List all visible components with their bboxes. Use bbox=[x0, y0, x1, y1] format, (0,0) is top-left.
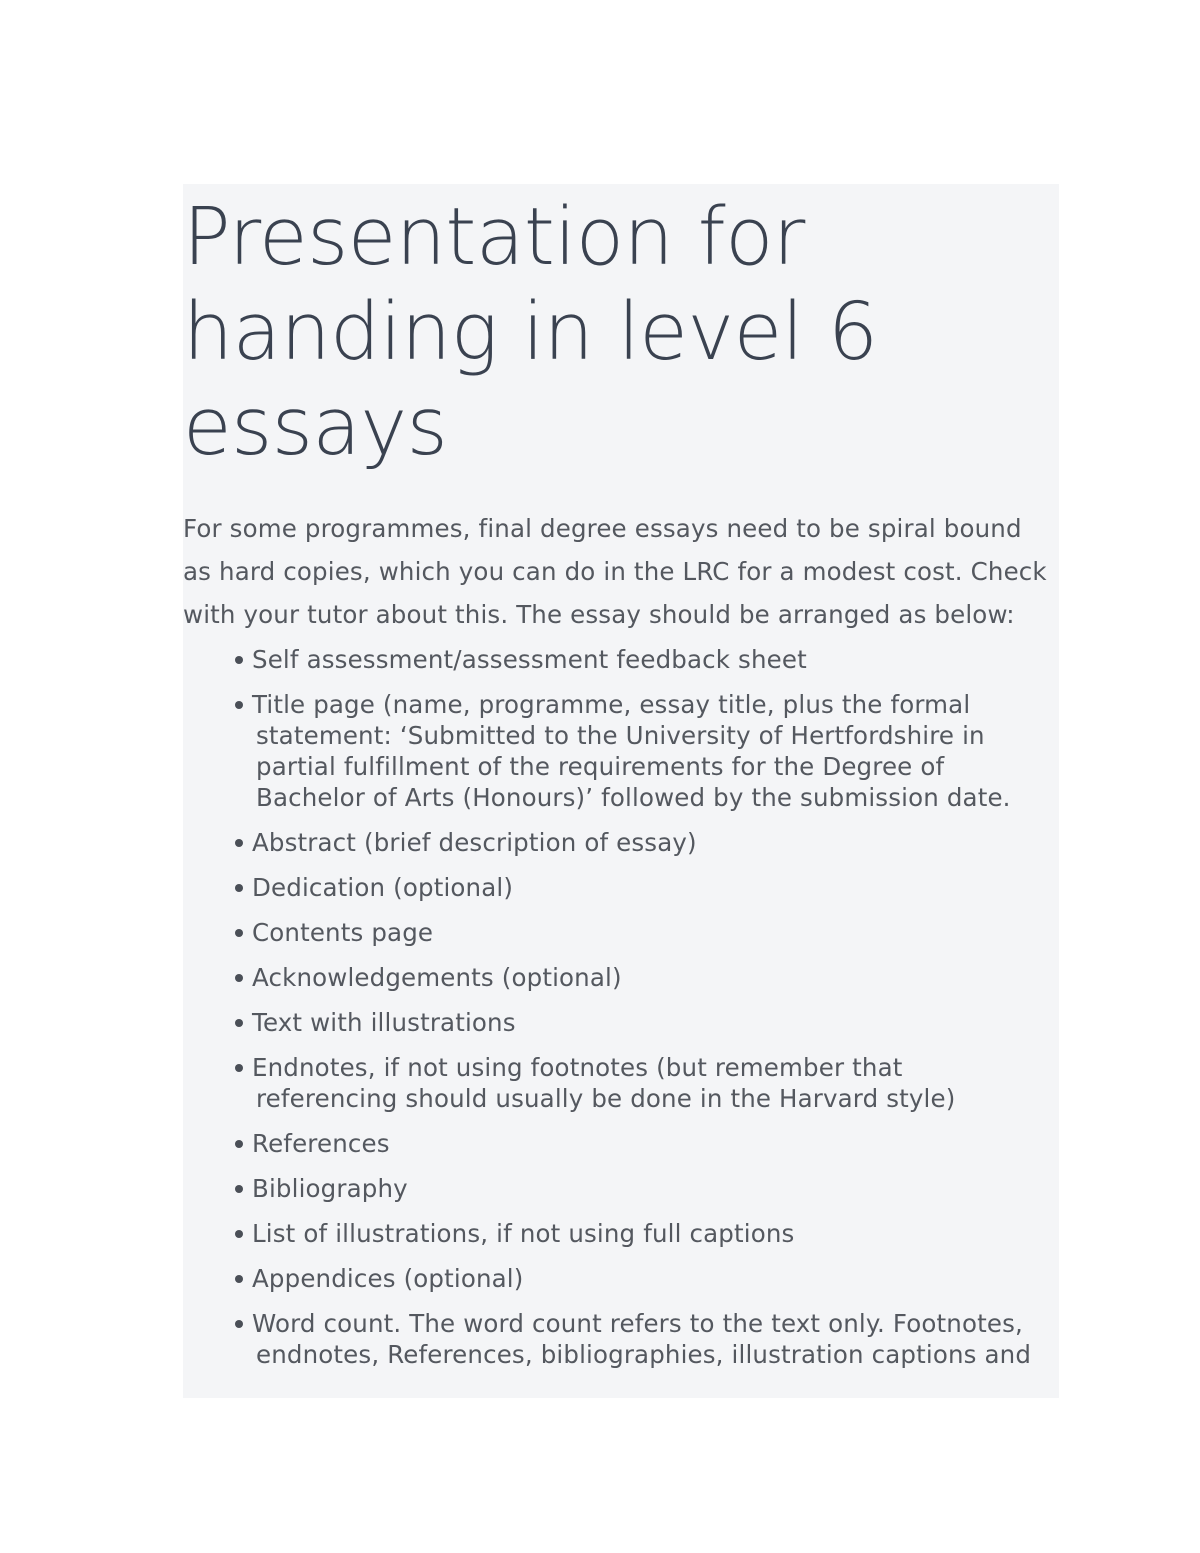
list-item-label: List of illustrations, if not using full… bbox=[252, 1219, 794, 1248]
list-item-label: Word count. The word count refers to the… bbox=[252, 1309, 1023, 1338]
document-content-card: Presentation for handing in level 6 essa… bbox=[183, 184, 1059, 1398]
list-item-continuation: endnotes, References, bibliographies, il… bbox=[252, 1339, 1053, 1370]
document-page: Presentation for handing in level 6 essa… bbox=[0, 0, 1200, 1553]
list-item-label: Contents page bbox=[252, 918, 433, 947]
list-item-label: Self assessment/assessment feedback shee… bbox=[252, 645, 807, 674]
list-item: References bbox=[183, 1128, 1059, 1159]
list-item: Word count. The word count refers to the… bbox=[183, 1308, 1059, 1370]
list-item: Endnotes, if not using footnotes (but re… bbox=[183, 1052, 1059, 1114]
list-item-label: Text with illustrations bbox=[252, 1008, 516, 1037]
list-item-label: Abstract (brief description of essay) bbox=[252, 828, 697, 857]
list-item: List of illustrations, if not using full… bbox=[183, 1218, 1059, 1249]
list-item-label: Bibliography bbox=[252, 1174, 408, 1203]
list-item: Bibliography bbox=[183, 1173, 1059, 1204]
document-body: Presentation for handing in level 6 essa… bbox=[183, 184, 1059, 1370]
list-item: Title page (name, programme, essay title… bbox=[183, 689, 1059, 813]
essay-structure-list: Self assessment/assessment feedback shee… bbox=[183, 644, 1059, 1370]
list-item-label: Title page (name, programme, essay title… bbox=[252, 690, 970, 719]
page-title: Presentation for handing in level 6 essa… bbox=[183, 184, 1059, 475]
list-item: Self assessment/assessment feedback shee… bbox=[183, 644, 1059, 675]
list-item-label: Acknowledgements (optional) bbox=[252, 963, 622, 992]
list-item-continuation: statement: ‘Submitted to the University … bbox=[252, 720, 1053, 751]
list-item-continuation: Bachelor of Arts (Honours)’ followed by … bbox=[252, 782, 1053, 813]
list-item-label: Appendices (optional) bbox=[252, 1264, 523, 1293]
list-item: Abstract (brief description of essay) bbox=[183, 827, 1059, 858]
list-item: Text with illustrations bbox=[183, 1007, 1059, 1038]
list-item-label: Dedication (optional) bbox=[252, 873, 513, 902]
list-item-continuation: partial fulfillment of the requirements … bbox=[252, 751, 1053, 782]
list-item-label: References bbox=[252, 1129, 390, 1158]
list-item: Acknowledgements (optional) bbox=[183, 962, 1059, 993]
list-item: Contents page bbox=[183, 917, 1059, 948]
intro-paragraph: For some programmes, final degree essays… bbox=[183, 507, 1059, 636]
list-item-continuation: referencing should usually be done in th… bbox=[252, 1083, 1053, 1114]
list-item: Dedication (optional) bbox=[183, 872, 1059, 903]
list-item-label: Endnotes, if not using footnotes (but re… bbox=[252, 1053, 903, 1082]
list-item: Appendices (optional) bbox=[183, 1263, 1059, 1294]
